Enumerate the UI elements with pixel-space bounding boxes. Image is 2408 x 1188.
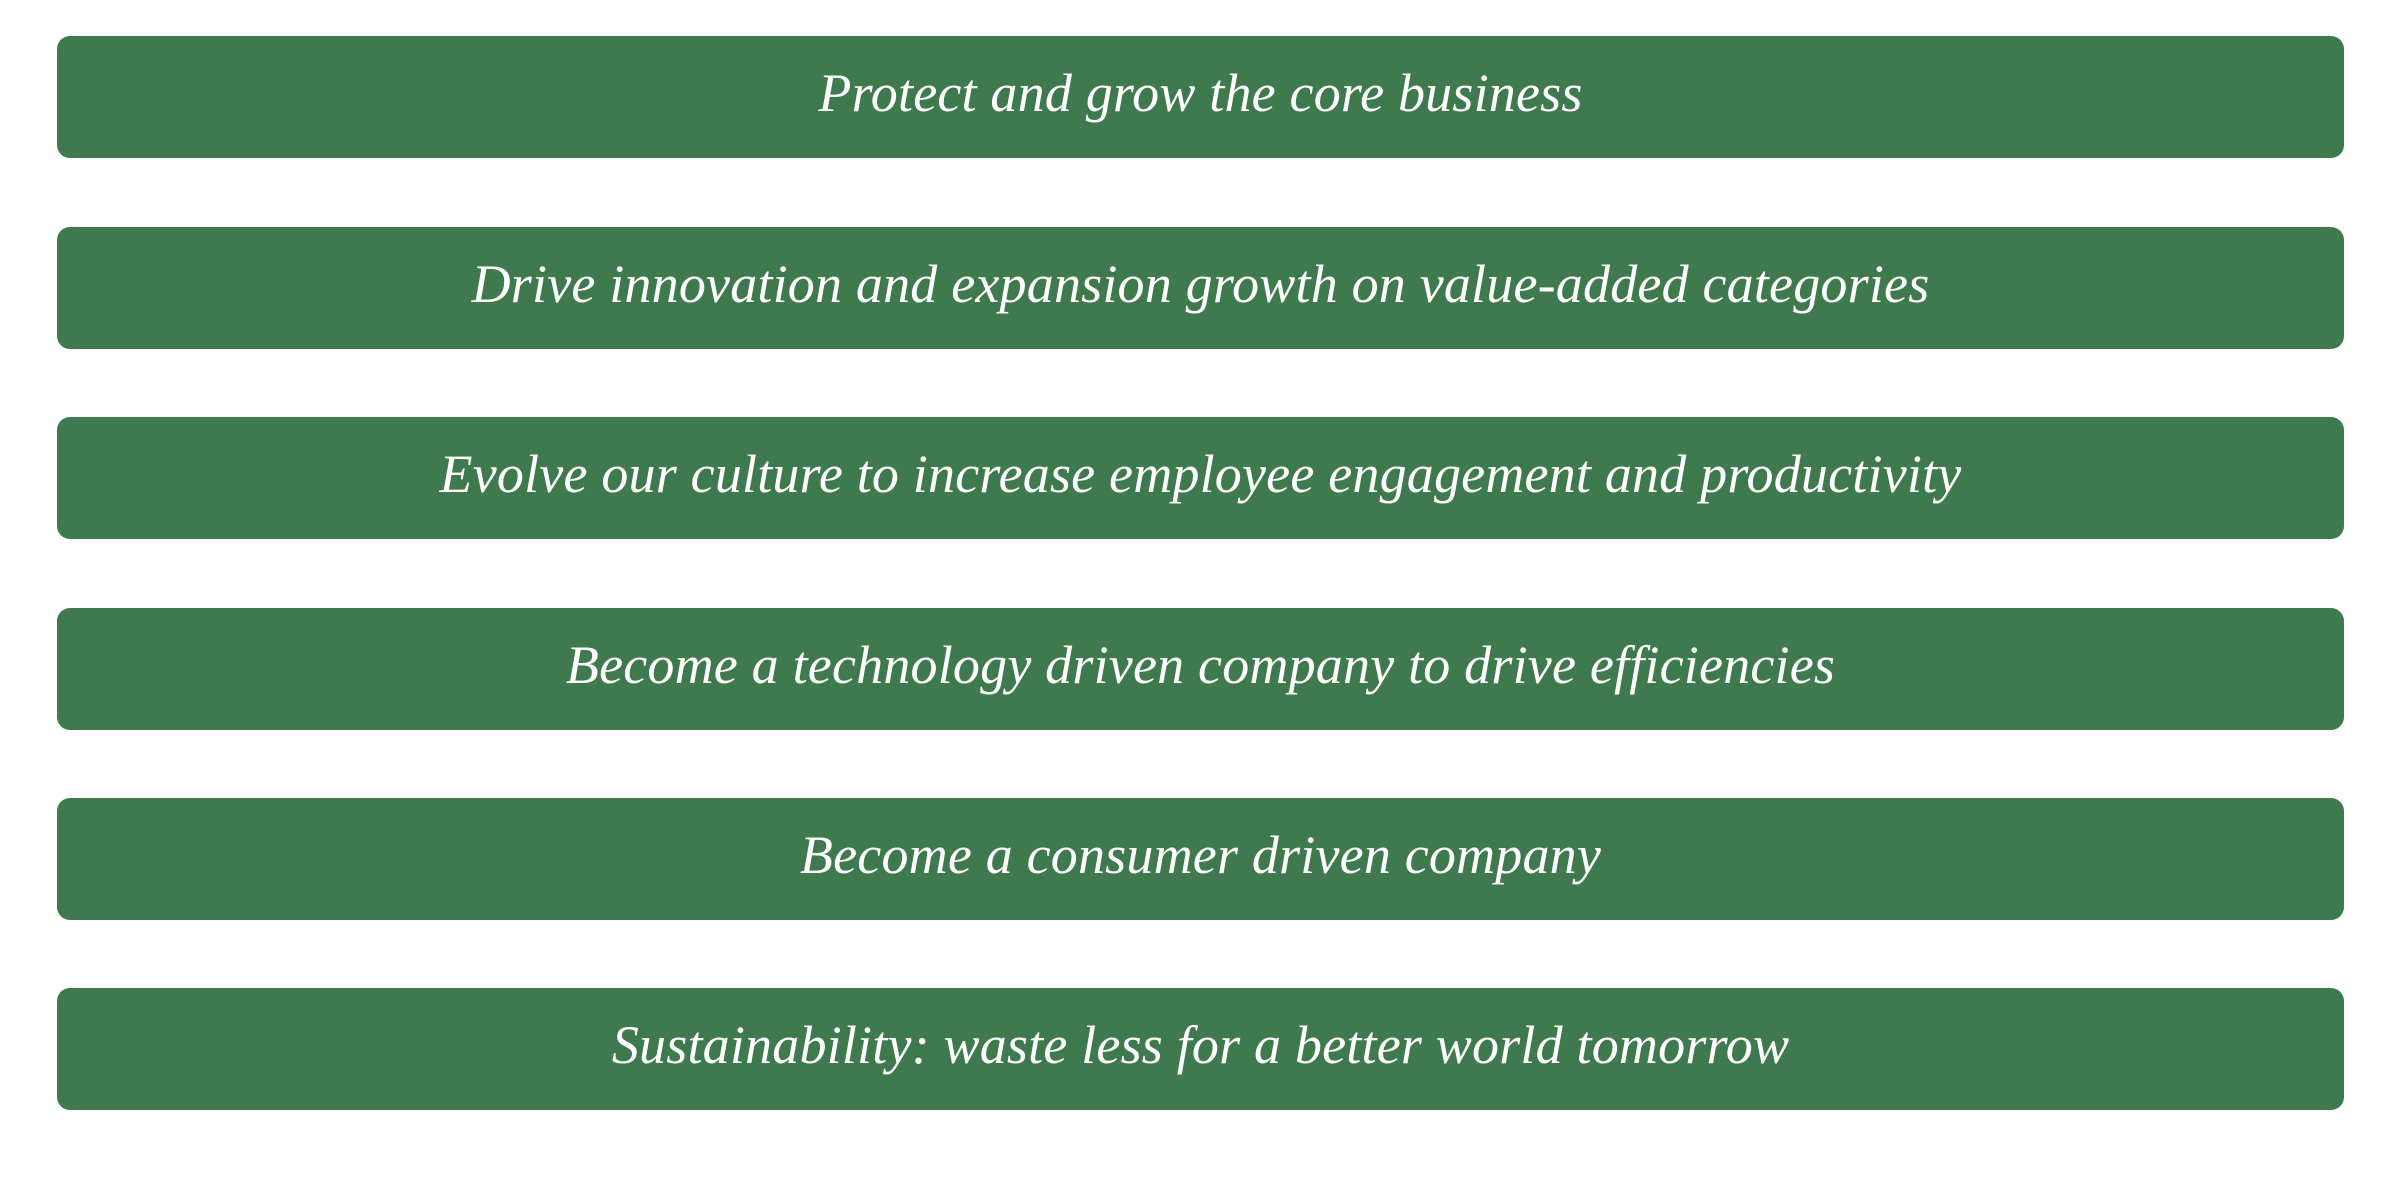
priority-label: Evolve our culture to increase employee … — [440, 446, 1962, 503]
priority-board: Protect and grow the core business Drive… — [0, 0, 2408, 1188]
priority-bar-technology-driven[interactable]: Become a technology driven company to dr… — [57, 608, 2344, 730]
priority-label: Become a consumer driven company — [800, 827, 1601, 884]
priority-label: Sustainability: waste less for a better … — [612, 1017, 1789, 1074]
priority-bar-evolve-culture[interactable]: Evolve our culture to increase employee … — [57, 417, 2344, 539]
priority-bar-drive-innovation[interactable]: Drive innovation and expansion growth on… — [57, 227, 2344, 349]
priority-label: Protect and grow the core business — [818, 65, 1582, 122]
priority-bar-consumer-driven[interactable]: Become a consumer driven company — [57, 798, 2344, 920]
priority-bar-sustainability[interactable]: Sustainability: waste less for a better … — [57, 988, 2344, 1110]
priority-label: Become a technology driven company to dr… — [566, 637, 1835, 694]
priority-label: Drive innovation and expansion growth on… — [472, 256, 1930, 313]
priority-bar-protect-grow-core[interactable]: Protect and grow the core business — [57, 36, 2344, 158]
